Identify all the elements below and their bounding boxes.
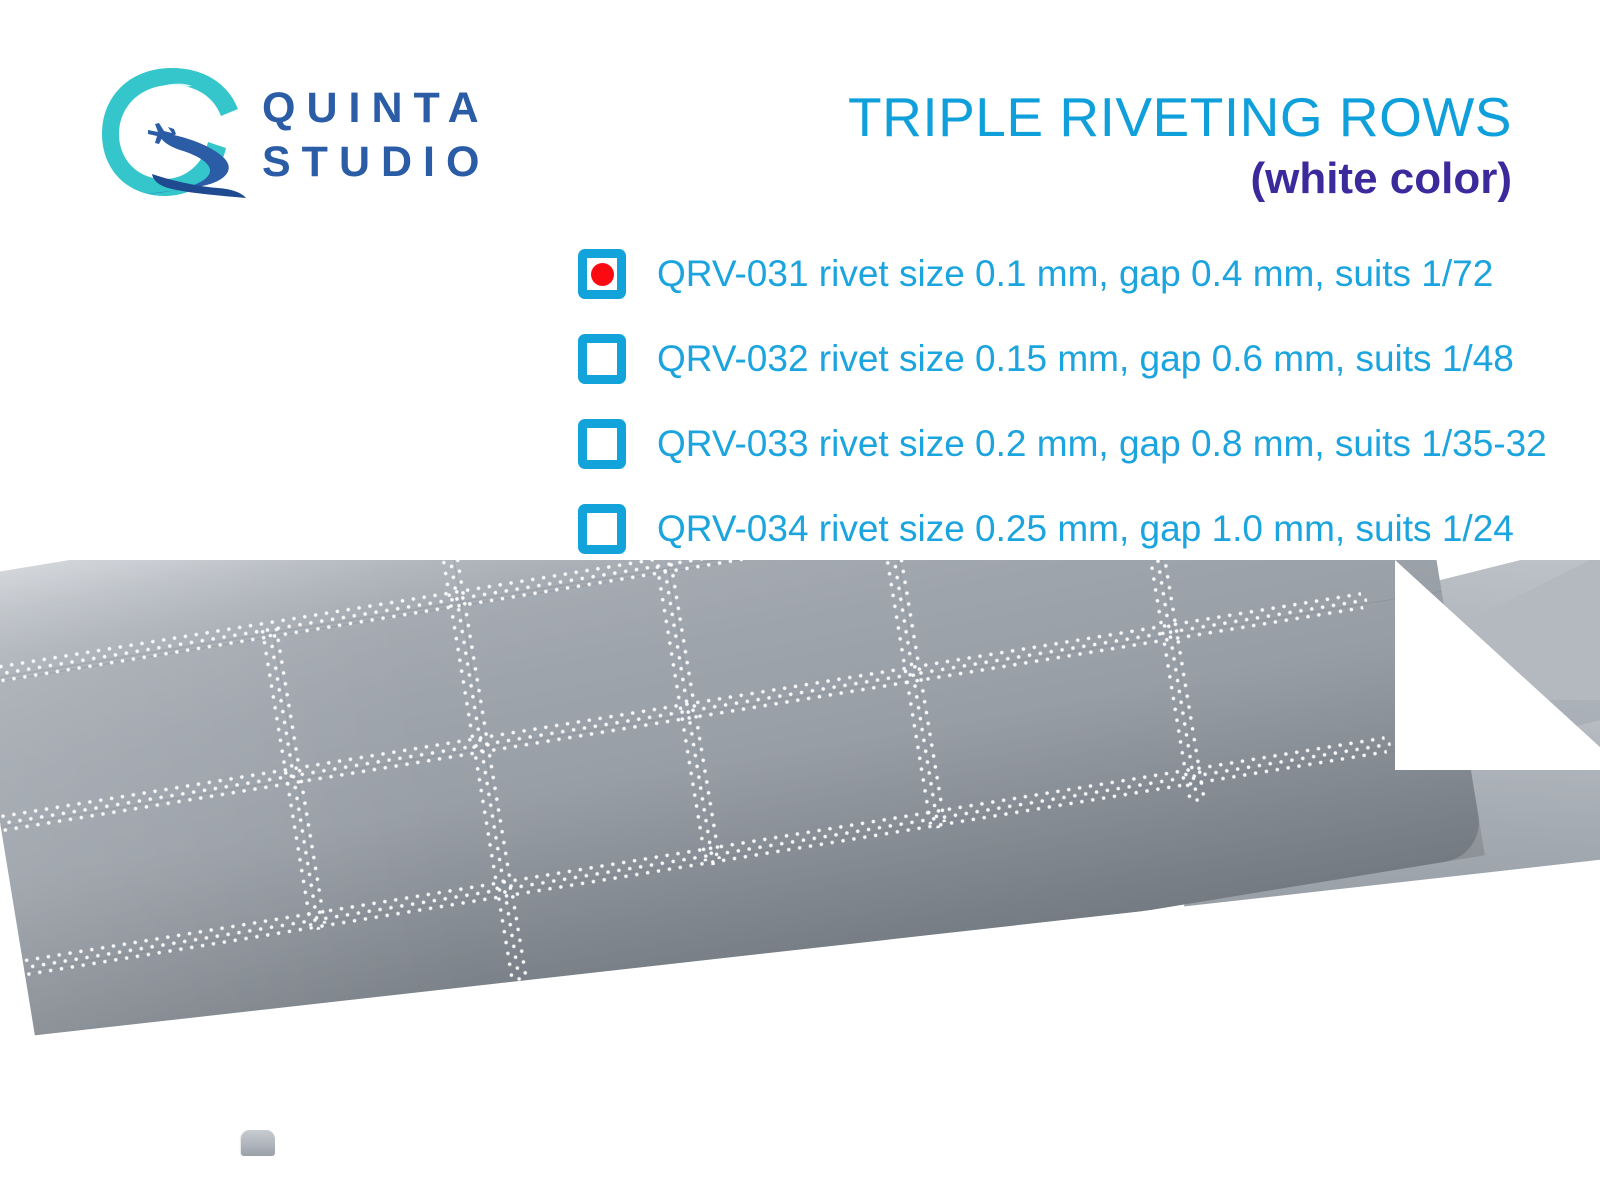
checkbox-empty-icon[interactable] (578, 504, 626, 554)
list-item[interactable]: QRV-031 rivet size 0.1 mm, gap 0.4 mm, s… (578, 244, 1538, 304)
list-item-label: QRV-032 rivet size 0.15 mm, gap 0.6 mm, … (657, 337, 1514, 381)
quinta-q-swoosh-jet-logo (96, 62, 248, 204)
list-item[interactable]: QRV-033 rivet size 0.2 mm, gap 0.8 mm, s… (578, 414, 1538, 474)
list-item[interactable]: QRV-034 rivet size 0.25 mm, gap 1.0 mm, … (578, 499, 1538, 559)
checkbox-checked-icon[interactable] (578, 249, 626, 299)
header-panel: QUINTA STUDIO TRIPLE RIVETING ROWS (whit… (0, 0, 1600, 560)
checkbox-empty-icon[interactable] (578, 419, 626, 469)
page-subtitle: (white color) (1250, 152, 1512, 206)
brand-name-line2: STUDIO (262, 135, 490, 189)
photo-background-corner (1395, 560, 1600, 770)
checkbox-empty-icon[interactable] (578, 334, 626, 384)
page-title: TRIPLE RIVETING ROWS (848, 86, 1512, 148)
product-variant-list: QRV-031 rivet size 0.1 mm, gap 0.4 mm, s… (578, 244, 1538, 559)
list-item[interactable]: QRV-032 rivet size 0.15 mm, gap 0.6 mm, … (578, 329, 1538, 389)
list-item-label: QRV-031 rivet size 0.1 mm, gap 0.4 mm, s… (657, 252, 1493, 296)
list-item-label: QRV-033 rivet size 0.2 mm, gap 0.8 mm, s… (657, 422, 1547, 466)
antenna-stub (241, 1130, 275, 1156)
brand-name-line1: QUINTA (262, 81, 490, 135)
brand-wordmark: QUINTA STUDIO (262, 77, 490, 189)
list-item-label: QRV-034 rivet size 0.25 mm, gap 1.0 mm, … (657, 507, 1514, 551)
product-photo (0, 560, 1600, 1188)
selected-dot-icon (591, 263, 614, 286)
brand-logo: QUINTA STUDIO (96, 62, 490, 204)
